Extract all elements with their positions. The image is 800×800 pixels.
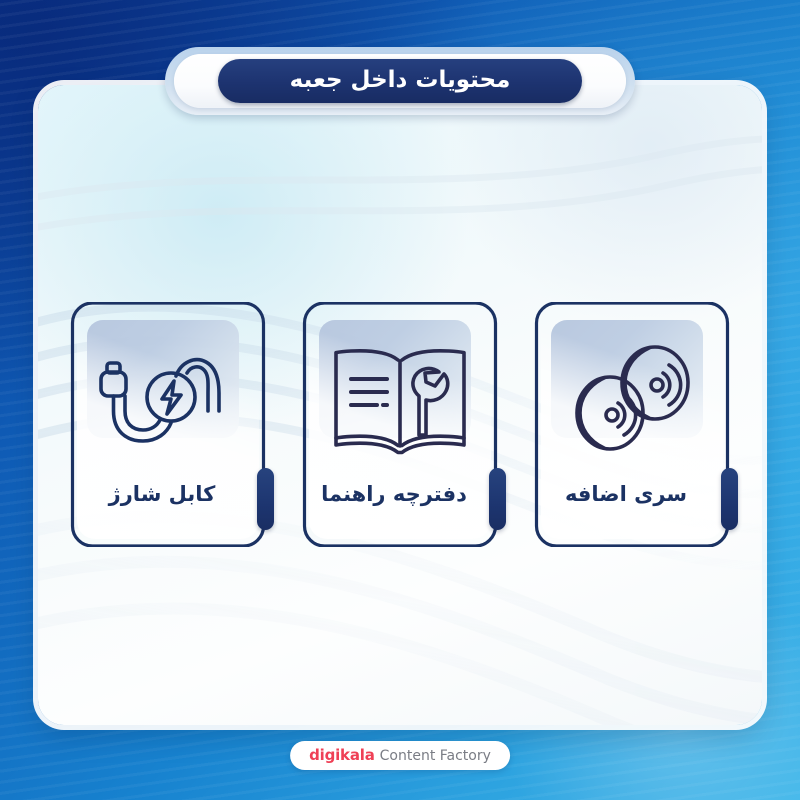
title-pill-inner: محتویات داخل جعبه — [218, 59, 582, 103]
card-extra-eartips[interactable]: سری اضافه — [533, 302, 731, 547]
title-pill-middle: محتویات داخل جعبه — [174, 54, 626, 108]
card-accent-tab — [721, 468, 738, 530]
card-label: دفترچه راهنما — [311, 474, 477, 514]
user-manual-book-icon — [301, 322, 499, 472]
charging-cable-icon — [69, 322, 267, 472]
brand-footer: digikala Content Factory — [290, 741, 510, 770]
card-label: کابل شارژ — [79, 474, 245, 514]
page-title: محتویات داخل جعبه — [290, 69, 511, 94]
extra-eartips-icon — [533, 322, 731, 472]
title-pill-outer: محتویات داخل جعبه — [165, 47, 635, 115]
brand-name: digikala — [309, 748, 375, 763]
infographic-canvas: محتویات داخل جعبه — [0, 0, 800, 800]
card-label: سری اضافه — [543, 474, 709, 514]
card-user-manual[interactable]: دفترچه راهنما — [301, 302, 499, 547]
brand-suffix: Content Factory — [380, 749, 491, 763]
card-charging-cable[interactable]: کابل شارژ — [69, 302, 267, 547]
card-accent-tab — [257, 468, 274, 530]
card-accent-tab — [489, 468, 506, 530]
card-row: کابل شارژ — [0, 302, 800, 550]
panel-tint-top-right — [451, 85, 762, 322]
